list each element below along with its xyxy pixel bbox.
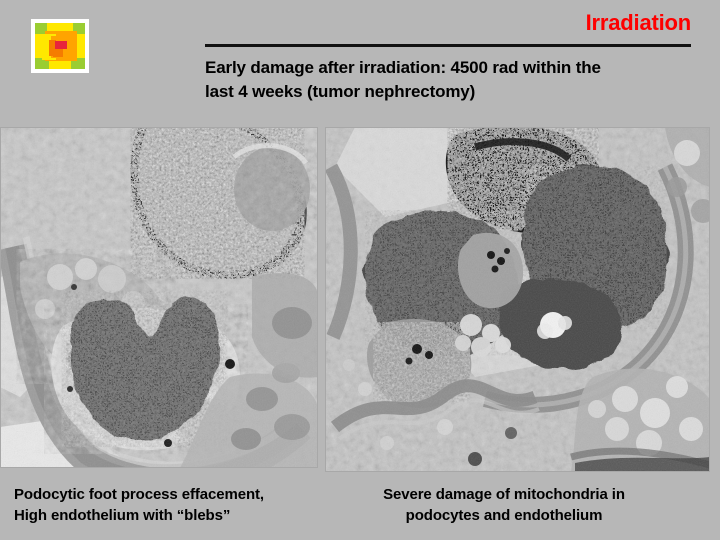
- caption-left-line-2: High endothelium with “blebs”: [14, 505, 334, 526]
- caption-right: Severe damage of mitochondria in podocyt…: [334, 484, 674, 526]
- nested-squares-logo: [31, 19, 89, 73]
- electron-micrograph-left: [0, 127, 318, 468]
- subtitle-line-2: last 4 weeks (tumor nephrectomy): [205, 80, 705, 104]
- electron-micrograph-right: [325, 127, 710, 472]
- slide-subtitle: Early damage after irradiation: 4500 rad…: [205, 56, 705, 104]
- caption-right-line-1: Severe damage of mitochondria in: [334, 484, 674, 505]
- slide-title: Irradiation: [205, 10, 691, 36]
- caption-right-line-2: podocytes and endothelium: [334, 505, 674, 526]
- caption-left-line-1: Podocytic foot process effacement,: [14, 484, 334, 505]
- title-divider: [205, 44, 691, 47]
- subtitle-line-1: Early damage after irradiation: 4500 rad…: [205, 56, 705, 80]
- caption-left: Podocytic foot process effacement, High …: [14, 484, 334, 526]
